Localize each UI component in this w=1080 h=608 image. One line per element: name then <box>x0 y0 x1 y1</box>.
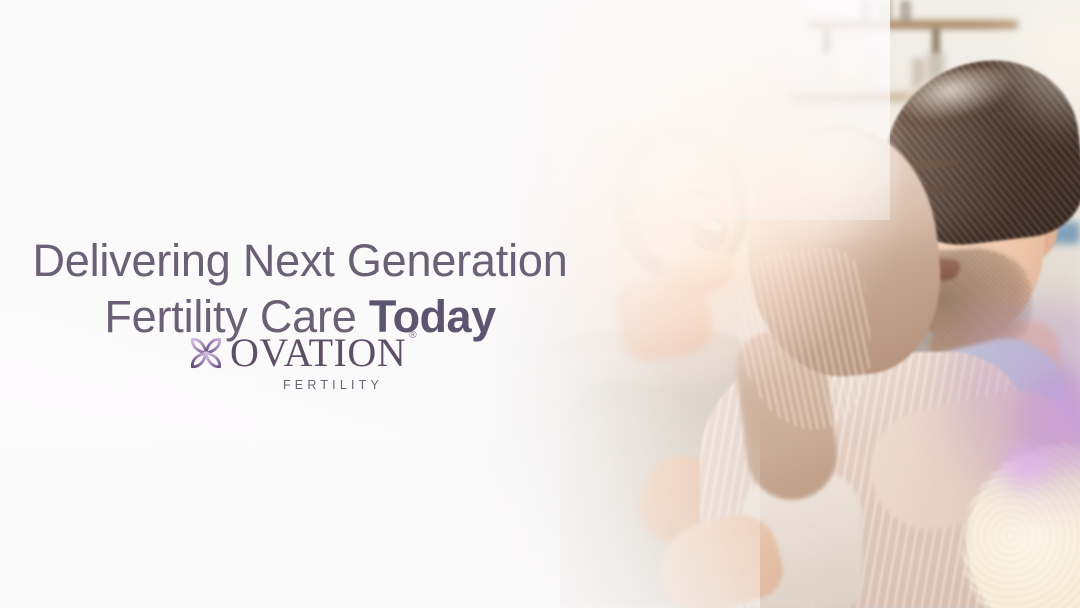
logo-wordmark: OVATION® <box>230 333 406 373</box>
hero-banner: Delivering Next Generation Fertility Car… <box>0 0 1080 608</box>
headline-line-1: Delivering Next Generation <box>0 233 600 289</box>
logo-primary-row: OVATION® <box>186 333 446 373</box>
ovation-fertility-logo[interactable]: OVATION® FERTILITY <box>186 333 446 391</box>
four-petal-flower-icon <box>186 333 226 373</box>
hero-content: Delivering Next Generation Fertility Car… <box>0 0 600 608</box>
logo-wordmark-text: OVATION <box>230 330 406 375</box>
page-title: Delivering Next Generation Fertility Car… <box>0 233 600 345</box>
registered-trademark-icon: ® <box>409 331 417 341</box>
logo-tagline: FERTILITY <box>186 378 446 392</box>
